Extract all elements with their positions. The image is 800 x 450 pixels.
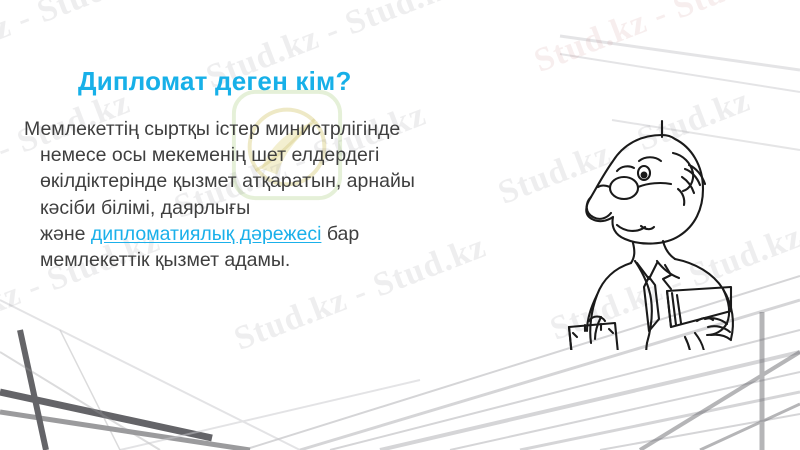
- presentation-slide: Stud.kz - Stud.kz Stud.kz - Stud.kz Stud…: [0, 0, 800, 450]
- body-line-5-prefix: және: [40, 223, 91, 245]
- body-line-4: кәсіби білімі, даярлығы: [24, 195, 544, 221]
- diplomat-cartoon-illustration: [545, 105, 780, 350]
- diplomat-figure-icon: [545, 105, 780, 350]
- body-line-5-suffix: бар: [321, 223, 359, 245]
- body-line-2: немесе осы мекеменің шет елдердегі: [24, 142, 544, 168]
- watermark-text: Stud.kz - Stud.kz: [529, 0, 791, 81]
- body-line-6: мемлекеттік қызмет адамы.: [24, 247, 544, 273]
- slide-body-text: Мемлекеттің сыртқы істер министрлігінде …: [24, 116, 544, 273]
- body-line-1: Мемлекеттің сыртқы істер министрлігінде: [24, 116, 544, 142]
- body-line-3: өкілдіктерінде қызмет атқаратын, арнайы: [24, 168, 544, 194]
- body-line-5: және дипломатиялық дәрежесі бар: [24, 221, 544, 247]
- diplomatic-rank-link[interactable]: дипломатиялық дәрежесі: [91, 223, 322, 245]
- slide-title: Дипломат деген кім?: [78, 66, 352, 97]
